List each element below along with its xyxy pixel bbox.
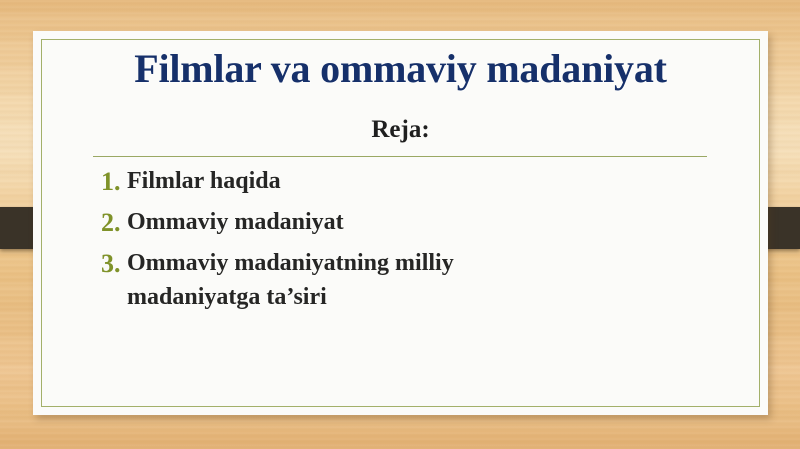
agenda-list: 1. Filmlar haqida 2. Ommaviy madaniyat 3… — [101, 164, 738, 318]
title-divider — [93, 156, 707, 157]
slide-content: Filmlar va ommaviy madaniyat Reja: 1. Fi… — [33, 31, 768, 415]
list-item-label: Ommaviy madaniyatning milliy madaniyatga… — [127, 246, 567, 314]
list-item-number: 3. — [101, 246, 127, 283]
list-item: 2. Ommaviy madaniyat — [101, 205, 738, 242]
list-item: 1. Filmlar haqida — [101, 164, 738, 201]
slide-canvas: Filmlar va ommaviy madaniyat Reja: 1. Fi… — [0, 0, 800, 449]
list-item-number: 1. — [101, 164, 127, 201]
agenda-heading: Reja: — [33, 117, 768, 142]
slide-card: Filmlar va ommaviy madaniyat Reja: 1. Fi… — [33, 31, 768, 415]
page-title: Filmlar va ommaviy madaniyat — [33, 49, 768, 89]
list-item-label: Filmlar haqida — [127, 164, 281, 198]
list-item-number: 2. — [101, 205, 127, 242]
list-item: 3. Ommaviy madaniyatning milliy madaniya… — [101, 246, 738, 314]
list-item-label: Ommaviy madaniyat — [127, 205, 344, 239]
